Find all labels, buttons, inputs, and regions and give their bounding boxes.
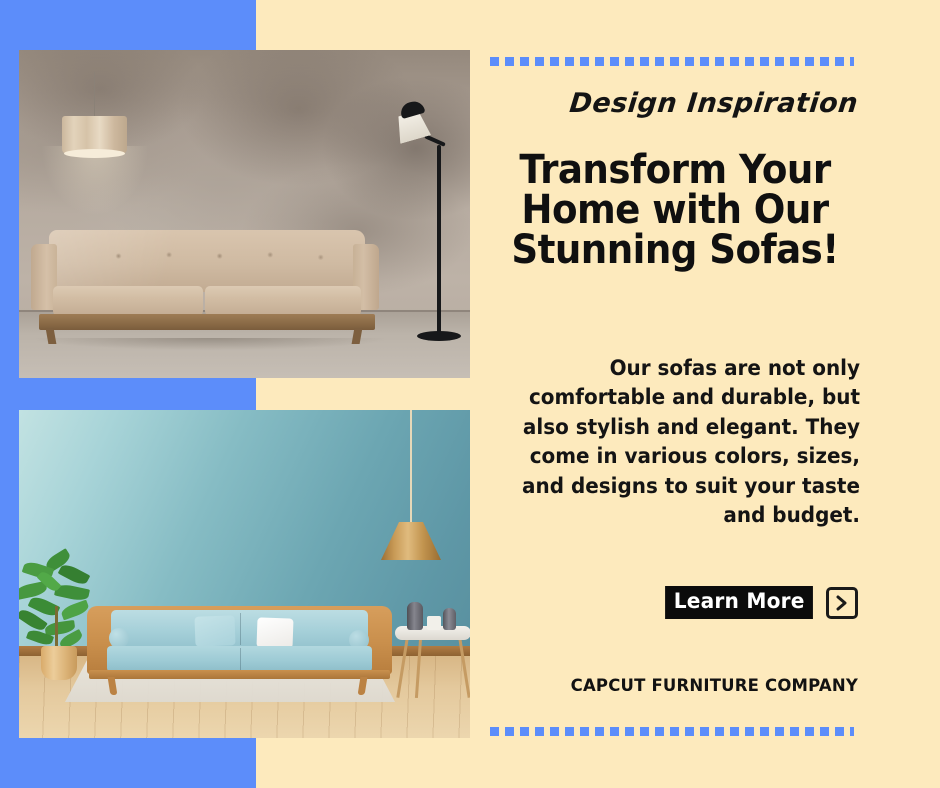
dotted-divider-bottom — [490, 727, 854, 736]
sofa-seat-left — [53, 286, 203, 316]
dotted-divider-top — [490, 57, 854, 66]
body-paragraph: Our sofas are not only comfortable and d… — [518, 354, 860, 530]
pendant-lamp-icon — [62, 116, 127, 154]
floor-lamp-pole — [437, 145, 441, 335]
plant-pot — [41, 646, 77, 680]
sofa-wood-base — [39, 314, 375, 330]
pendant-cord — [94, 72, 95, 117]
sofa-wood-base — [89, 670, 390, 679]
bolster-cushion-left — [109, 628, 129, 648]
cta-row: Learn More — [662, 586, 858, 619]
sofa-seat-right — [205, 286, 361, 316]
poster-canvas: Design Inspiration Transform Your Home w… — [0, 0, 940, 788]
teal-sofa — [87, 606, 392, 694]
pendant-cord — [410, 410, 412, 524]
blue-pillow — [194, 615, 235, 646]
teal-living-room-photo — [19, 410, 470, 738]
vase-short — [443, 608, 456, 630]
eyebrow-text: Design Inspiration — [486, 88, 859, 119]
sofa-leg-left — [108, 677, 118, 695]
headline-line-1: Transform Your — [503, 150, 847, 190]
sofa-seat — [107, 646, 372, 672]
headline-line-3: Stunning Sofas! — [503, 230, 847, 270]
beige-sofa — [31, 230, 379, 342]
page-title: Transform Your Home with Our Stunning So… — [503, 150, 847, 270]
white-pillow — [256, 617, 293, 648]
sofa-backrest — [49, 230, 365, 292]
content-column: Design Inspiration Transform Your Home w… — [490, 0, 860, 788]
chevron-right-icon — [834, 594, 850, 612]
sofa-leg-right — [358, 677, 368, 695]
headline-line-2: Home with Our — [503, 190, 847, 230]
beige-living-room-photo — [19, 50, 470, 378]
brand-name: CAPCUT FURNITURE COMPANY — [499, 676, 858, 696]
learn-more-button[interactable]: Learn More — [665, 586, 813, 619]
chevron-right-button[interactable] — [826, 587, 858, 619]
sofa-backrest — [111, 610, 368, 648]
sofa-leg-left — [46, 328, 57, 344]
sofa-shadow — [35, 338, 385, 350]
vase-tall — [407, 602, 423, 630]
cup — [427, 616, 441, 630]
